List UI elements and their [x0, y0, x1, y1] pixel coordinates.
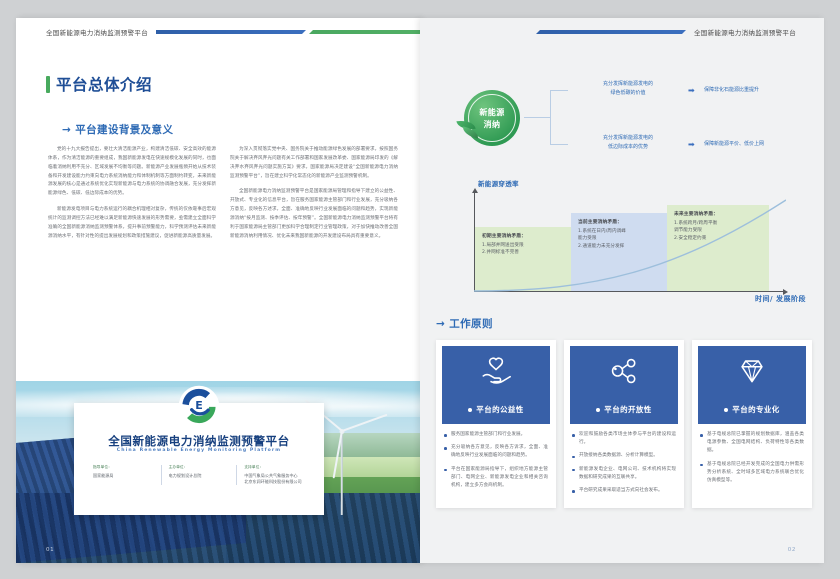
principle-card[interactable]: 平台的专业化 基于电规总院已掌握的规划数据库，涵盖各类电源参数、全国电网结构、负… — [692, 340, 812, 508]
running-head-green-bar — [309, 30, 420, 34]
running-head-blue-bar — [536, 30, 686, 34]
card-title: 平台的公益性 — [468, 404, 523, 415]
credit-value: 国家能源局 — [93, 473, 161, 479]
penetration-chart: 新能源穿透率 初期主要消纳矛盾： 1.局部并网送出受限 2.并网标准不完善 当前… — [442, 178, 810, 308]
page-left: 全国新能源电力消纳监测预警平台 平台总体介绍 → 平台建设背景及意义 党的十九大… — [16, 18, 420, 563]
running-head-right-text: 全国新能源电力消纳监测预警平台 — [694, 27, 796, 37]
credit-label: 支持单位： — [244, 465, 312, 470]
center-node-line2: 消纳 — [484, 119, 501, 130]
mindmap-connector — [550, 144, 568, 145]
diamond-icon — [735, 356, 769, 386]
center-node-label: 新能源 消纳 — [464, 90, 520, 146]
title-accent-bar — [46, 76, 50, 93]
credit-label: 主办单位： — [169, 465, 237, 470]
chart-trend-curve — [474, 192, 786, 292]
bullet-dot-icon — [596, 408, 600, 412]
mindmap-connector — [550, 90, 551, 144]
paragraph: 为深入贯彻落实党中央、国务院关于推动能源绿色发展的部署要求，按照国务院关于解决弃… — [230, 146, 398, 181]
arrow-right-icon: ➡ — [688, 141, 695, 149]
svg-text:E: E — [195, 399, 203, 412]
card-title-text: 平台的专业化 — [732, 404, 779, 415]
mindmap-connector — [524, 117, 550, 118]
page-title: 平台总体介绍 — [46, 73, 152, 95]
hero-photo-band: E 全国新能源电力消纳监测预警平台 China Renewable Energy… — [16, 381, 420, 563]
page-title-text: 平台总体介绍 — [56, 73, 152, 95]
bullet-dot-icon — [468, 408, 472, 412]
card-header: 平台的开放性 — [570, 346, 678, 424]
body-column-left: 党的十九大报告提出，要壮大清洁能源产业，构建清洁低碳、安全高效的能源体系，作为清… — [48, 146, 216, 249]
mindmap-connector — [550, 90, 568, 91]
bullet-dot-icon — [724, 408, 728, 412]
logo-credit-columns: 指导单位： 国家能源局 主办单位： 电力规划设计总院 支持单位： 中国气象局公共… — [86, 465, 312, 485]
logo-title-cn: 全国新能源电力消纳监测预警平台 — [74, 433, 324, 449]
body-column-right: 为深入贯彻落实党中央、国务院关于推动能源绿色发展的部署要求，按照国务院关于解决弃… — [230, 146, 398, 249]
platform-logo-card: E 全国新能源电力消纳监测预警平台 China Renewable Energy… — [74, 403, 324, 515]
mindmap-branch-label: 充分发挥新能源发电的 低边际成本的优势 — [572, 134, 684, 151]
logo-credit-column: 主办单位： 电力规划设计总院 — [161, 465, 237, 485]
list-item: 平台在国家能源局指导下，组织地方能源主管部门、电网企业、新能源发电企业和相关咨询… — [444, 466, 548, 491]
center-node-line1: 新能源 — [479, 107, 504, 118]
credit-value: 中国气象局公共气象服务中心 北京东润环能科技股份有限公司 — [244, 473, 312, 485]
principles-title: → 工作原则 — [436, 316, 493, 331]
mindmap-diagram: 新能源 消纳 充分发挥新能源发电的 绿色低碳的价值 ➡ 保障非化石能源比重提升 … — [432, 74, 824, 162]
logo-credit-column: 指导单位： 国家能源局 — [86, 465, 161, 485]
chart-y-axis-label: 新能源穿透率 — [478, 178, 519, 188]
credit-value: 电力规划设计总院 — [169, 473, 237, 479]
list-item: 基于电规总院已掌握的规划数据库，涵盖各类电源参数、全国电网结构、负荷特性等各类数… — [700, 431, 804, 456]
body-columns: 党的十九大报告提出，要壮大清洁能源产业，构建清洁低碳、安全高效的能源体系，作为清… — [48, 146, 398, 249]
subsection-title: → 平台建设背景及意义 — [62, 122, 173, 137]
chart-x-axis-label: 时间/ 发展阶段 — [755, 294, 806, 304]
list-item: 开放接纳各类数据源、分析计算模型。 — [572, 452, 676, 460]
list-item: 欢迎和鼓励各类市场主体参与平台的建设和运行。 — [572, 431, 676, 447]
paragraph: 新能源发电项目与电力系统运行的耦合机理相对复杂，传统的仅依靠事后宏观统计的监测调… — [48, 206, 216, 241]
list-item: 新能源发电企业、电网公司、技术机构将实现数据和研究成果的互联共享。 — [572, 466, 676, 482]
running-head-right: 全国新能源电力消纳监测预警平台 — [536, 18, 796, 46]
running-head-left-text: 全国新能源电力消纳监测预警平台 — [46, 27, 148, 37]
card-header: 平台的公益性 — [442, 346, 550, 424]
hand-heart-icon — [479, 356, 513, 386]
share-network-icon — [608, 356, 640, 386]
list-item: 充分吸纳各方意见，反映各方诉求，全面、准确地反映行业发展面临的问题和趋势。 — [444, 444, 548, 460]
logo-title-en: China Renewable Energy Monitoring Platfo… — [74, 448, 324, 453]
list-item: 基于电规总院已经开发完成的全国电力供需形势分析系统、全时域多区域电力系统联合优化… — [700, 461, 804, 486]
running-head-blue-bar — [156, 30, 306, 34]
page-right: 全国新能源电力消纳监测预警平台 新能源 消纳 充分发挥新能源发电的 绿色低碳的价… — [420, 18, 824, 563]
running-head-left: 全国新能源电力消纳监测预警平台 — [46, 18, 420, 46]
list-item: 服务国家能源主管部门和行业发展。 — [444, 431, 548, 439]
mindmap-result-label: 保障非化石能源比重提升 — [704, 86, 824, 95]
card-title: 平台的开放性 — [596, 404, 651, 415]
platform-logo-icon: E — [176, 383, 222, 429]
card-bullet-list: 服务国家能源主管部门和行业发展。 充分吸纳各方意见，反映各方诉求，全面、准确地反… — [442, 424, 550, 490]
paragraph: 全国新能源电力消纳监测预警平台是国家能源局管理和指导下建立的公益性、开放式、专业… — [230, 188, 398, 241]
card-bullet-list: 欢迎和鼓励各类市场主体参与平台的建设和运行。 开放接纳各类数据源、分析计算模型。… — [570, 424, 678, 495]
page-number-right: 02 — [788, 547, 796, 553]
card-bullet-list: 基于电规总院已掌握的规划数据库，涵盖各类电源参数、全国电网结构、负荷特性等各类数… — [698, 424, 806, 485]
card-title-text: 平台的开放性 — [604, 404, 651, 415]
principle-card[interactable]: 平台的公益性 服务国家能源主管部门和行业发展。 充分吸纳各方意见，反映各方诉求，… — [436, 340, 556, 508]
mindmap-branch-label: 充分发挥新能源发电的 绿色低碳的价值 — [572, 80, 684, 97]
mindmap-center-node: 新能源 消纳 — [464, 90, 520, 146]
mindmap-result-label: 保障新能源平价、低价上网 — [704, 140, 824, 149]
principle-card[interactable]: 平台的开放性 欢迎和鼓励各类市场主体参与平台的建设和运行。 开放接纳各类数据源、… — [564, 340, 684, 508]
magazine-spread: 全国新能源电力消纳监测预警平台 平台总体介绍 → 平台建设背景及意义 党的十九大… — [0, 0, 840, 579]
card-header: 平台的专业化 — [698, 346, 806, 424]
card-title: 平台的专业化 — [724, 404, 779, 415]
arrow-right-icon: ➡ — [688, 87, 695, 95]
card-title-text: 平台的公益性 — [476, 404, 523, 415]
logo-credit-column: 支持单位： 中国气象局公共气象服务中心 北京东润环能科技股份有限公司 — [236, 465, 312, 485]
paragraph: 党的十九大报告提出，要壮大清洁能源产业，构建清洁低碳、安全高效的能源体系，作为清… — [48, 146, 216, 199]
page-number-left: 01 — [46, 547, 54, 553]
principle-cards: 平台的公益性 服务国家能源主管部门和行业发展。 充分吸纳各方意见，反映各方诉求，… — [436, 340, 812, 508]
list-item: 平台研究成果采取适当方式向社会发布。 — [572, 487, 676, 495]
credit-label: 指导单位： — [93, 465, 161, 470]
